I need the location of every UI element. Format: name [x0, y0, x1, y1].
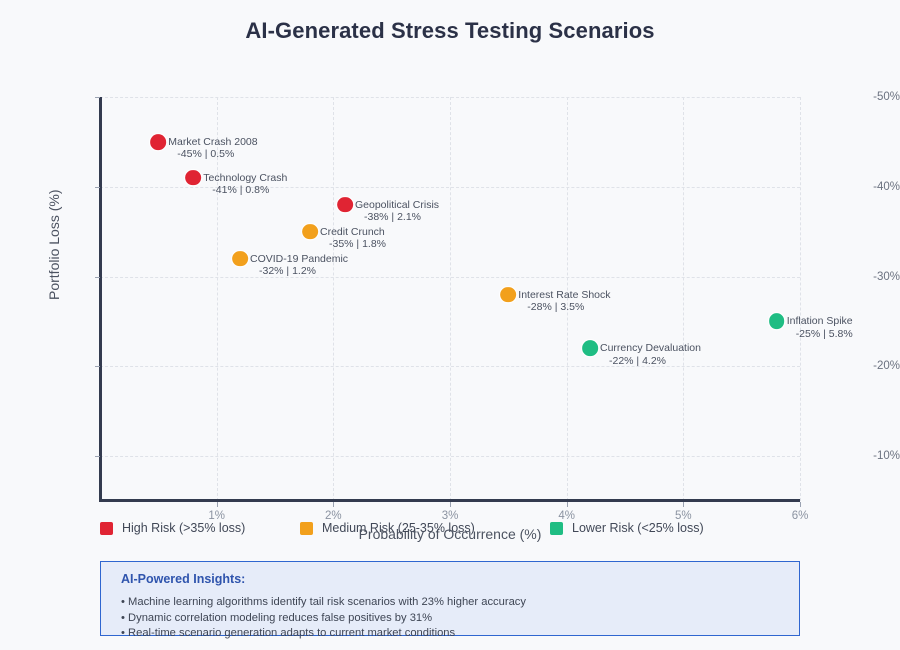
legend-entry[interactable]: High Risk (>35% loss): [100, 518, 245, 538]
legend-label: High Risk (>35% loss): [122, 521, 245, 535]
y-axis-spine: [99, 97, 102, 502]
y-tick-mark: [95, 366, 100, 367]
ai-insight-line: • Dynamic correlation modeling reduces f…: [121, 611, 779, 627]
scatter-point-name: Currency Devaluation: [600, 342, 701, 355]
scatter-point-marker[interactable]: [150, 134, 166, 150]
y-tick-label: -10%: [844, 450, 900, 462]
x-tick-mark: [333, 502, 334, 507]
scatter-point-values: -32% | 1.2%: [250, 265, 348, 278]
x-tick-mark: [217, 502, 218, 507]
scatter-point-marker[interactable]: [582, 341, 598, 357]
y-tick-mark: [95, 277, 100, 278]
ai-insight-line: • Real-time scenario generation adapts t…: [121, 626, 779, 642]
y-tick-label: -40%: [844, 181, 900, 193]
legend-entry[interactable]: Lower Risk (<25% loss): [550, 518, 704, 538]
legend-label: Lower Risk (<25% loss): [572, 521, 704, 535]
legend-color-swatch: [300, 522, 313, 535]
scatter-point-marker[interactable]: [302, 224, 318, 240]
x-tick-mark: [567, 502, 568, 507]
scatter-point-annotation: Inflation Spike-25% | 5.8%: [787, 315, 853, 340]
scatter-point-marker[interactable]: [232, 251, 248, 267]
scatter-point-name: COVID-19 Pandemic: [250, 253, 348, 266]
gridline-x-3: [450, 97, 451, 501]
scatter-point-name: Market Crash 2008: [168, 136, 257, 149]
scatter-point-annotation: Credit Crunch-35% | 1.8%: [320, 226, 386, 251]
scatter-point-name: Inflation Spike: [787, 315, 853, 328]
page-title: AI-Generated Stress Testing Scenarios: [0, 18, 900, 44]
scatter-point-values: -22% | 4.2%: [600, 355, 701, 368]
scatter-point-marker[interactable]: [500, 287, 516, 303]
ai-insights-list: • Machine learning algorithms identify t…: [121, 595, 779, 642]
scatter-point-annotation: Interest Rate Shock-28% | 3.5%: [518, 289, 610, 314]
scatter-point-annotation: Geopolitical Crisis-38% | 2.1%: [355, 199, 439, 224]
scatter-point-annotation: Market Crash 2008-45% | 0.5%: [168, 136, 257, 161]
scatter-point-values: -38% | 2.1%: [355, 211, 439, 224]
x-tick-mark: [800, 502, 801, 507]
scatter-point-annotation: COVID-19 Pandemic-32% | 1.2%: [250, 253, 348, 278]
y-tick-label: -30%: [844, 271, 900, 283]
scatter-point-marker[interactable]: [185, 170, 201, 186]
scatter-point-name: Geopolitical Crisis: [355, 199, 439, 212]
stress-testing-scatter-chart: AI-Generated Stress Testing Scenarios Po…: [0, 0, 900, 650]
ai-insights-heading: AI-Powered Insights:: [121, 572, 779, 586]
y-axis-title: Portfolio Loss (%): [46, 190, 62, 300]
gridline-x-6: [800, 97, 801, 501]
legend-entry[interactable]: Medium Risk (25-35% loss): [300, 518, 475, 538]
gridline-x-5: [683, 97, 684, 501]
scatter-point-name: Technology Crash: [203, 172, 287, 185]
scatter-point-marker[interactable]: [769, 314, 785, 330]
ai-insights-panel: AI-Powered Insights: • Machine learning …: [100, 561, 800, 636]
scatter-point-values: -45% | 0.5%: [168, 148, 257, 161]
x-tick-mark: [450, 502, 451, 507]
legend-color-swatch: [550, 522, 563, 535]
scatter-point-values: -35% | 1.8%: [320, 238, 386, 251]
y-tick-label: -20%: [844, 360, 900, 372]
scatter-point-name: Interest Rate Shock: [518, 289, 610, 302]
ai-insight-line: • Machine learning algorithms identify t…: [121, 595, 779, 611]
gridline-x-2: [333, 97, 334, 501]
scatter-point-name: Credit Crunch: [320, 226, 386, 239]
scatter-point-marker[interactable]: [337, 197, 353, 213]
scatter-point-annotation: Technology Crash-41% | 0.8%: [203, 172, 287, 197]
scatter-point-values: -41% | 0.8%: [203, 184, 287, 197]
x-tick-mark: [683, 502, 684, 507]
scatter-point-values: -28% | 3.5%: [518, 301, 610, 314]
y-tick-mark: [95, 97, 100, 98]
chart-legend: High Risk (>35% loss)Medium Risk (25-35%…: [100, 518, 800, 538]
scatter-point-annotation: Currency Devaluation-22% | 4.2%: [600, 342, 701, 367]
legend-color-swatch: [100, 522, 113, 535]
y-tick-label: -50%: [844, 91, 900, 103]
plot-area: Market Crash 2008-45% | 0.5%Technology C…: [100, 97, 800, 501]
scatter-point-values: -25% | 5.8%: [787, 328, 853, 341]
legend-label: Medium Risk (25-35% loss): [322, 521, 475, 535]
y-tick-mark: [95, 187, 100, 188]
y-tick-mark: [95, 456, 100, 457]
